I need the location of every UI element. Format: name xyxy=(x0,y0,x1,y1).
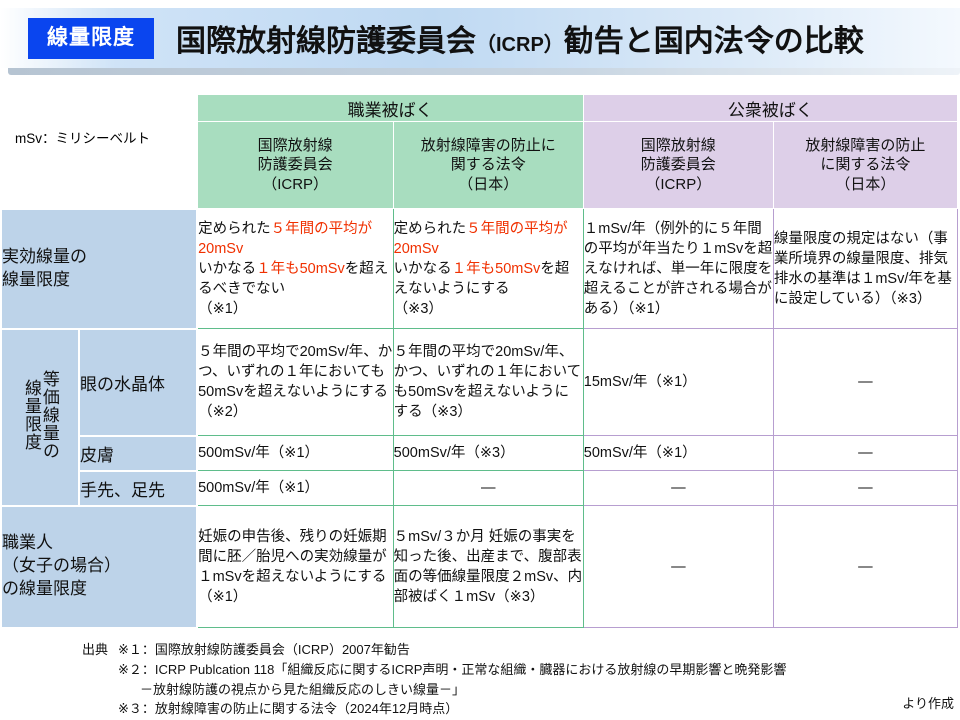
col-header-occ-icrp: 国際放射線 防護委員会 （ICRP） xyxy=(197,122,393,209)
col-header-occ-law-l2: 関する法令 xyxy=(394,155,583,174)
cell-skin-occ-icrp: 500mSv/年（※1） xyxy=(197,436,393,471)
cell-skin-pub-law: — xyxy=(773,436,957,471)
cell-lens-occ-icrp: ５年間の平均で20mSv/年、かつ、いずれの１年においても50mSvを超えないよ… xyxy=(197,329,393,436)
page-title: 国際放射線防護委員会（ICRP）勧告と国内法令の比較 xyxy=(176,16,864,60)
title-bar: 線量限度 国際放射線防護委員会（ICRP）勧告と国内法令の比較 xyxy=(0,8,960,68)
table-row-lens-of-eye: 等価線量の線量限度 眼の水晶体 ５年間の平均で20mSv/年、かつ、いずれの１年… xyxy=(1,329,958,436)
col-header-occ-icrp-l2: 防護委員会 xyxy=(198,155,393,174)
title-bar-shadow xyxy=(8,68,960,75)
footnote-3: ※３：放射線障害の防止に関する法令（2024年12月時点） xyxy=(0,699,960,719)
row-header-equivalent-dose: 等価線量の線量限度 xyxy=(1,329,79,506)
group-header-occupational: 職業被ばく xyxy=(197,95,583,122)
col-header-occ-law-l1: 放射線障害の防止に xyxy=(394,136,583,155)
col-header-pub-law-l1: 放射線障害の防止 xyxy=(774,136,957,155)
row-header-female-worker-l1: 職業人 xyxy=(2,532,196,555)
cell-effective-occ-icrp-s1: 定められた xyxy=(198,221,271,237)
table-row-skin: 皮膚 500mSv/年（※1） 500mSv/年（※3） 50mSv/年（※1）… xyxy=(1,436,958,471)
col-header-pub-icrp: 国際放射線 防護委員会 （ICRP） xyxy=(583,122,773,209)
col-header-occ-icrp-l3: （ICRP） xyxy=(198,175,393,194)
cell-effective-occ-icrp: 定められた５年間の平均が20mSv いかなる１年も50mSvを超えるべきでない … xyxy=(197,209,393,329)
page-title-tail: 勧告と国内法令の比較 xyxy=(564,25,864,58)
row-header-equivalent-dose-vertical: 等価線量の線量限度 xyxy=(22,340,58,490)
cell-effective-pub-law: 線量限度の規定はない（事業所境界の線量限度、排気排水の基準は１mSv/年を基に設… xyxy=(773,209,957,329)
cell-lens-pub-icrp: 15mSv/年（※1） xyxy=(583,329,773,436)
cell-female-pub-icrp: — xyxy=(583,506,773,628)
cell-lens-pub-law: — xyxy=(773,329,957,436)
page-title-paren: （ICRP） xyxy=(476,34,564,56)
cell-extremities-pub-icrp: — xyxy=(583,471,773,506)
footnote-source-label: 出典 xyxy=(0,640,118,660)
cell-female-occ-icrp: 妊娠の申告後、残りの妊娠期間に胚／胎児への実効線量が１mSvを超えないようにする… xyxy=(197,506,393,628)
unit-note-cell: mSv：ミリシーベルト xyxy=(1,95,197,209)
col-header-occ-law: 放射線障害の防止に 関する法令 （日本） xyxy=(393,122,583,209)
footnote-created-from: より作成 xyxy=(902,694,954,714)
row-header-effective-dose-l1: 実効線量の xyxy=(2,246,196,269)
cell-effective-occ-law: 定められた５年間の平均が20mSv いかなる１年も50mSvを超えないようにする… xyxy=(393,209,583,329)
footnote-1: ※１：国際放射線防護委員会（ICRP）2007年勧告 xyxy=(118,640,960,660)
footnote-2-continued: －放射線防護の視点から見た組織反応のしきい線量－」 xyxy=(0,680,960,700)
title-badge: 線量限度 xyxy=(28,18,154,59)
footnotes: 出典 ※１：国際放射線防護委員会（ICRP）2007年勧告 ※２：ICRP Pu… xyxy=(0,640,960,719)
col-header-pub-icrp-l3: （ICRP） xyxy=(584,175,773,194)
cell-effective-pub-icrp: １mSv/年（例外的に５年間の平均が年当たり１mSvを超えなければ、単一年に限度… xyxy=(583,209,773,329)
cell-female-occ-law: ５mSv/３か月 妊娠の事実を知った後、出産まで、腹部表面の等価線量限度２mSv… xyxy=(393,506,583,628)
col-header-pub-law-l3: （日本） xyxy=(774,175,957,194)
cell-effective-occ-icrp-s6: （※1） xyxy=(198,301,247,317)
dose-limit-table: mSv：ミリシーベルト 職業被ばく 公衆被ばく 国際放射線 防護委員会 （ICR… xyxy=(0,94,958,629)
cell-extremities-occ-icrp: 500mSv/年（※1） xyxy=(197,471,393,506)
cell-effective-occ-law-s4: １年も50mSv xyxy=(452,261,541,277)
cell-skin-occ-law: 500mSv/年（※3） xyxy=(393,436,583,471)
cell-skin-pub-icrp: 50mSv/年（※1） xyxy=(583,436,773,471)
cell-effective-occ-law-s3: いかなる xyxy=(394,261,452,277)
row-header-skin: 皮膚 xyxy=(79,436,197,471)
cell-effective-occ-icrp-s4: １年も50mSv xyxy=(256,261,345,277)
cell-effective-occ-law-s6: （※3） xyxy=(394,301,443,317)
table-row-effective-dose: 実効線量の 線量限度 定められた５年間の平均が20mSv いかなる１年も50mS… xyxy=(1,209,958,329)
cell-effective-occ-icrp-s3: いかなる xyxy=(198,261,256,277)
cell-lens-occ-law: ５年間の平均で20mSv/年、かつ、いずれの１年においても50mSvを超えないよ… xyxy=(393,329,583,436)
row-header-female-worker-l2: （女子の場合） xyxy=(2,555,196,578)
table-group-header-row: mSv：ミリシーベルト 職業被ばく 公衆被ばく xyxy=(1,95,958,122)
dose-limit-table-wrap: mSv：ミリシーベルト 職業被ばく 公衆被ばく 国際放射線 防護委員会 （ICR… xyxy=(0,94,960,629)
footnote-2: ※２：ICRP Publcation 118「組織反応に関するICRP声明・正常… xyxy=(0,660,960,680)
cell-female-pub-law: — xyxy=(773,506,957,628)
row-header-lens-of-eye: 眼の水晶体 xyxy=(79,329,197,436)
row-header-equivalent-dose-v2: 線量限度 xyxy=(22,379,41,451)
col-header-pub-law-l2: に関する法令 xyxy=(774,155,957,174)
col-header-occ-icrp-l1: 国際放射線 xyxy=(198,136,393,155)
row-header-female-worker: 職業人 （女子の場合） の線量限度 xyxy=(1,506,197,628)
cell-extremities-occ-law: — xyxy=(393,471,583,506)
group-header-public: 公衆被ばく xyxy=(583,95,957,122)
col-header-pub-law: 放射線障害の防止 に関する法令 （日本） xyxy=(773,122,957,209)
table-row-female-worker: 職業人 （女子の場合） の線量限度 妊娠の申告後、残りの妊娠期間に胚／胎児への実… xyxy=(1,506,958,628)
row-header-equivalent-dose-v1: 等価線量の xyxy=(40,370,59,460)
page-title-main: 国際放射線防護委員会 xyxy=(176,25,476,58)
row-header-extremities: 手先、足先 xyxy=(79,471,197,506)
col-header-pub-icrp-l1: 国際放射線 xyxy=(584,136,773,155)
col-header-pub-icrp-l2: 防護委員会 xyxy=(584,155,773,174)
cell-extremities-pub-law: — xyxy=(773,471,957,506)
row-header-effective-dose: 実効線量の 線量限度 xyxy=(1,209,197,329)
col-header-occ-law-l3: （日本） xyxy=(394,175,583,194)
cell-effective-occ-law-s1: 定められた xyxy=(394,221,467,237)
row-header-female-worker-l3: の線量限度 xyxy=(2,578,196,601)
footnote-row-1: 出典 ※１：国際放射線防護委員会（ICRP）2007年勧告 xyxy=(0,640,960,660)
table-row-extremities: 手先、足先 500mSv/年（※1） — — — xyxy=(1,471,958,506)
unit-note: mSv：ミリシーベルト xyxy=(1,127,197,175)
row-header-effective-dose-l2: 線量限度 xyxy=(2,269,196,292)
